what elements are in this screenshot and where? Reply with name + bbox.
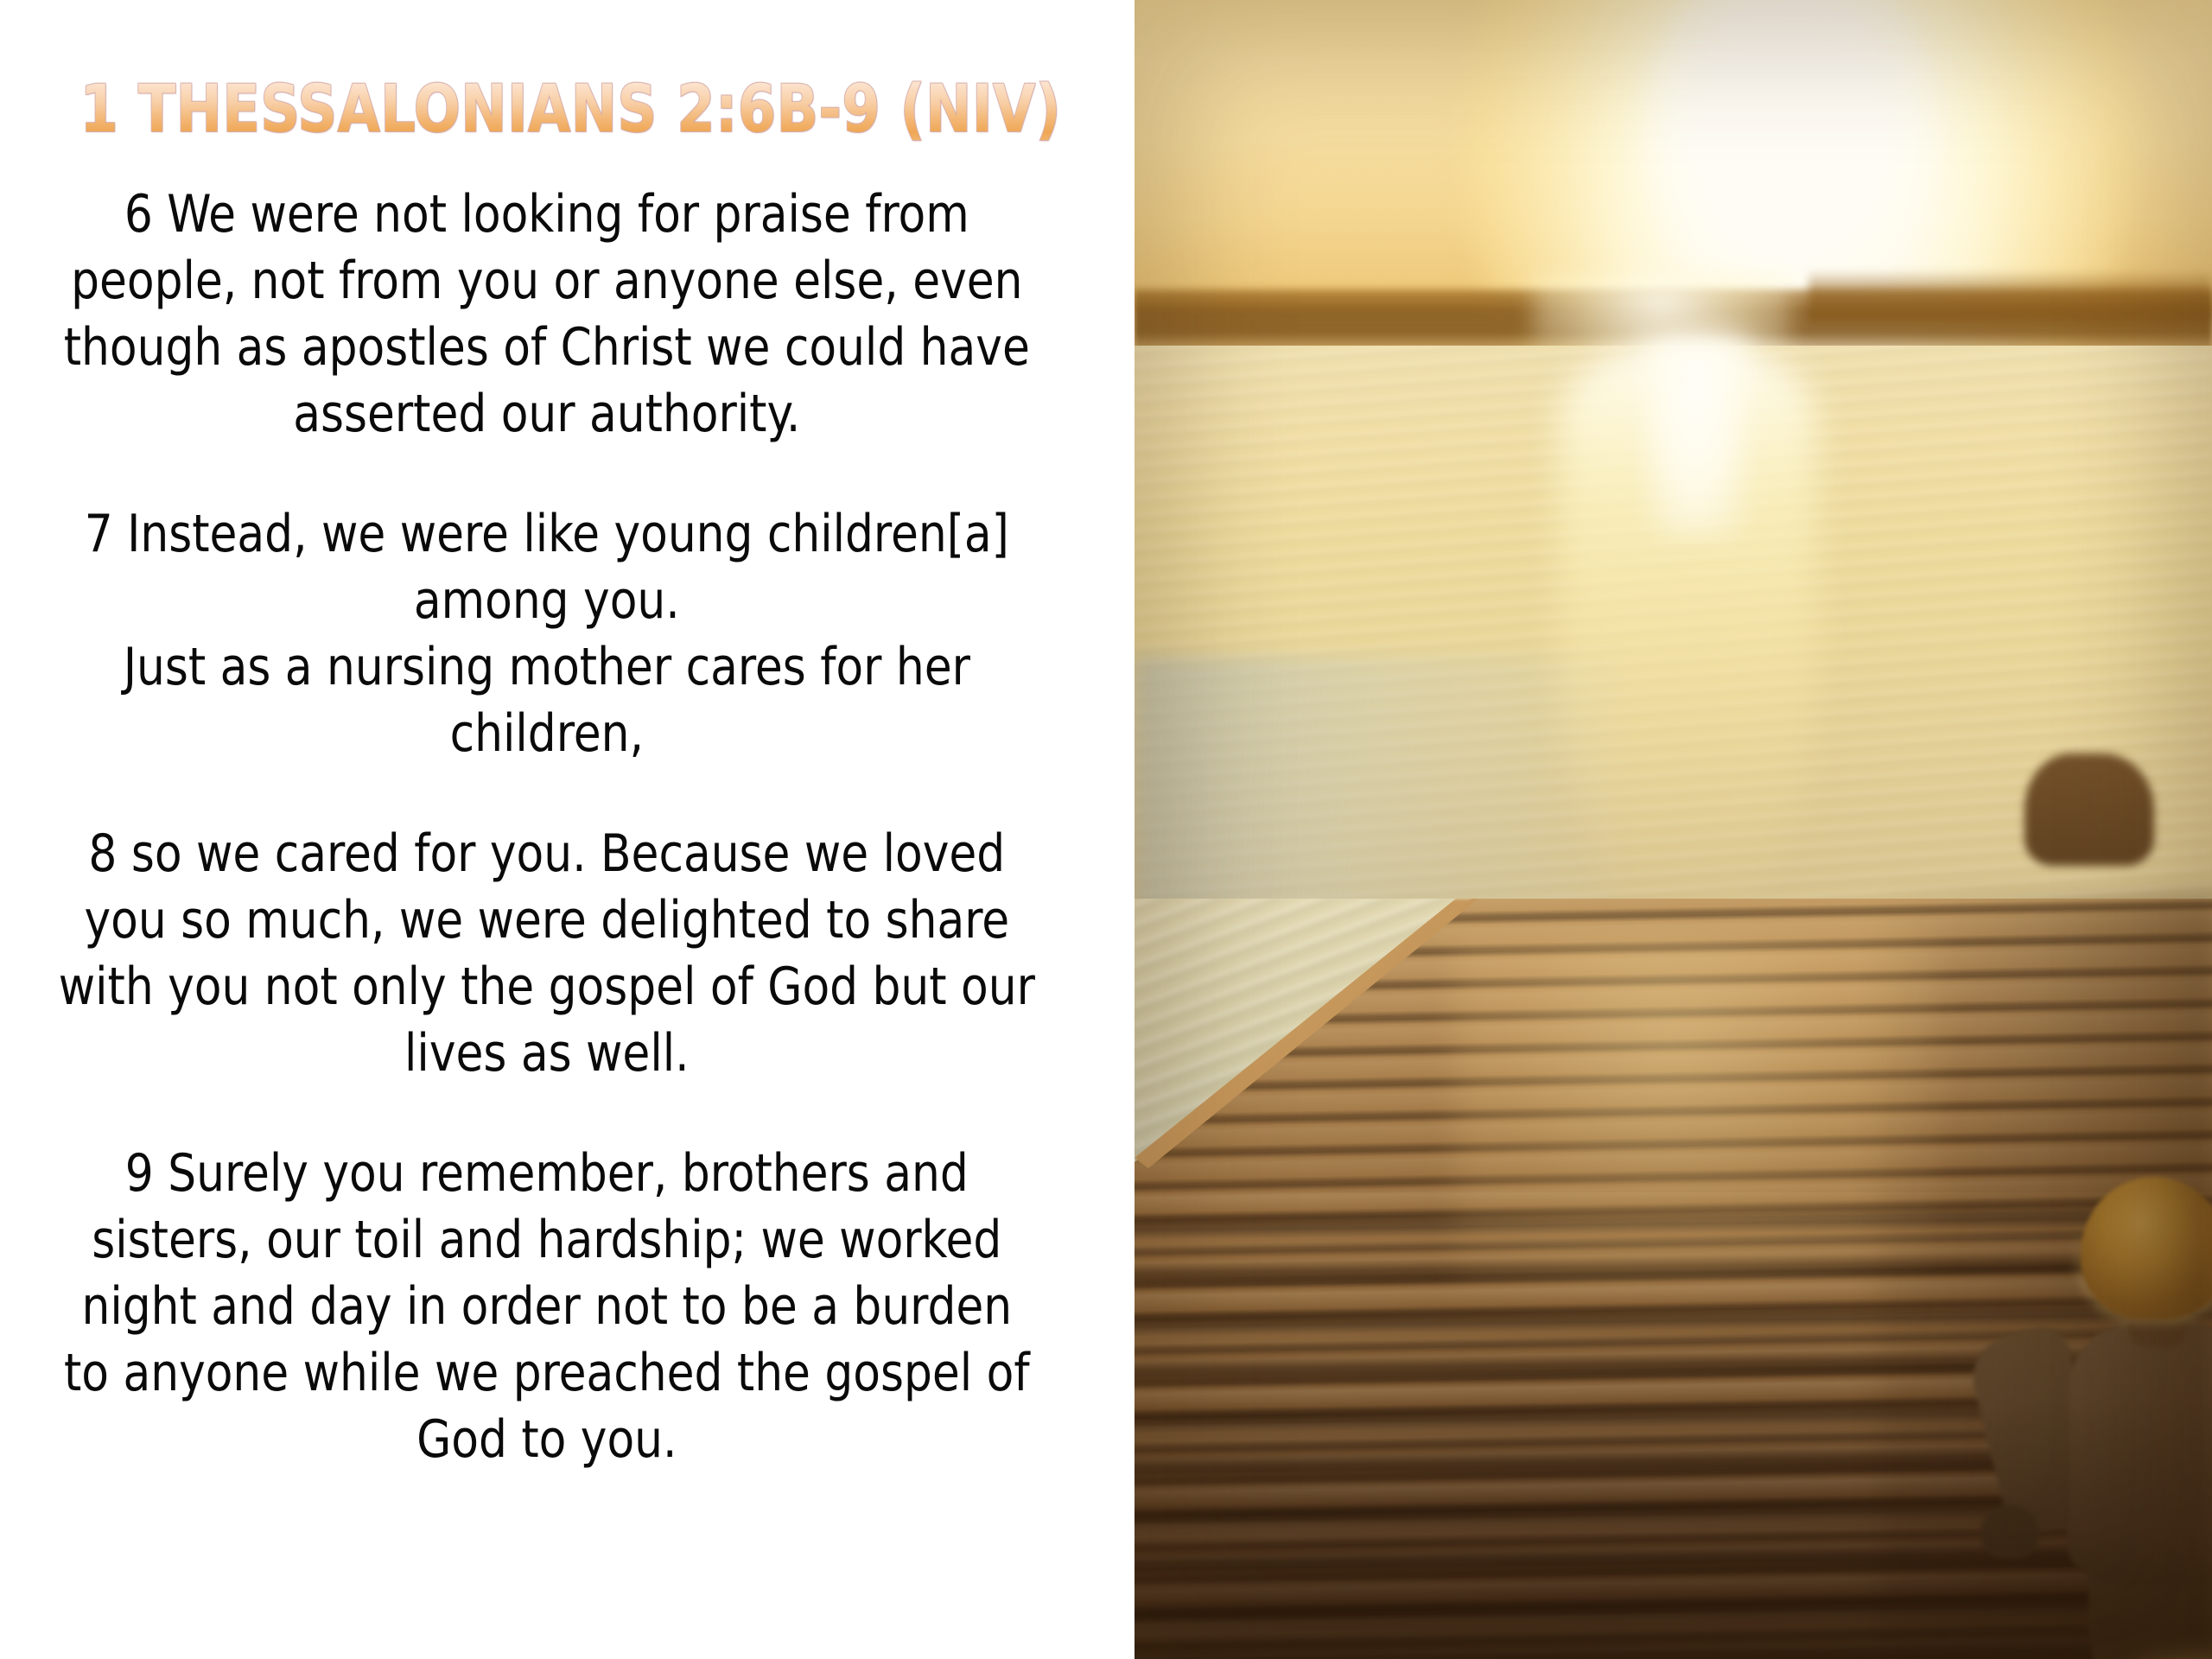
verse-line: asserted our authority. — [14, 381, 1080, 448]
verse-line: 6 We were not looking for praise from — [14, 181, 1080, 248]
slide-canvas: 1 THESSALONIANS 2:6B-9 (NIV) 1 THESSALON… — [0, 0, 2212, 1659]
sunset-dock-photo — [1135, 0, 2212, 1659]
verse-line: 9 Surely you remember, brothers and — [14, 1141, 1080, 1207]
verse-line: sisters, our toil and hardship; we worke… — [14, 1207, 1080, 1274]
verse-line: God to you. — [14, 1407, 1080, 1473]
scripture-body: 6 We were not looking for praise from pe… — [14, 181, 1080, 1473]
dock-foreground-shadow — [1135, 1400, 2212, 1659]
verse-line: Just as a nursing mother cares for her — [14, 634, 1080, 701]
verse-line: children, — [14, 701, 1080, 767]
verse-block-7: 7 Instead, we were like young children[a… — [14, 501, 1080, 767]
dock-mooring-post — [2024, 753, 2154, 866]
verse-line: people, not from you or anyone else, eve… — [14, 248, 1080, 315]
verse-line: to anyone while we preached the gospel o… — [14, 1340, 1080, 1407]
verse-line: night and day in order not to be a burde… — [14, 1274, 1080, 1340]
page-title: 1 THESSALONIANS 2:6B-9 (NIV) — [80, 73, 1057, 147]
verse-line: 8 so we cared for you. Because we loved — [14, 821, 1080, 887]
verse-block-9: 9 Surely you remember, brothers and sist… — [14, 1141, 1080, 1473]
verse-line: with you not only the gospel of God but … — [14, 954, 1080, 1020]
verse-line: 7 Instead, we were like young children[a… — [14, 501, 1080, 568]
verse-line: you so much, we were delighted to share — [14, 887, 1080, 954]
far-shoreline-treeline — [1808, 270, 2212, 321]
verse-line: among you. — [14, 568, 1080, 634]
verse-block-6: 6 We were not looking for praise from pe… — [14, 181, 1080, 448]
verse-block-8: 8 so we cared for you. Because we loved … — [14, 821, 1080, 1087]
verse-line: lives as well. — [14, 1020, 1080, 1087]
scripture-text-panel: 1 THESSALONIANS 2:6B-9 (NIV) 1 THESSALON… — [0, 0, 1135, 1659]
verse-line: though as apostles of Christ we could ha… — [14, 315, 1080, 381]
sun-reflection-hotspot — [1644, 339, 1748, 537]
